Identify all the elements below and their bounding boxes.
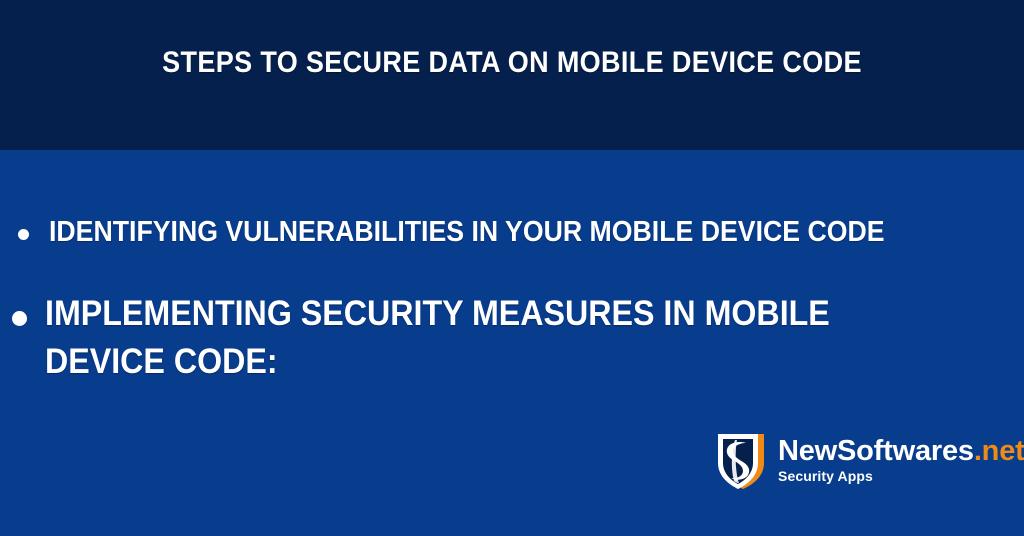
bullet-dot-icon	[18, 229, 29, 240]
logo-text-block: NewSoftwares.net Security Apps	[772, 428, 1024, 486]
list-item: Identifying Vulnerabilities In Your Mobi…	[0, 212, 1024, 252]
logo-brand-tld: .net	[974, 435, 1024, 467]
brand-logo: NewSoftwares.net Security Apps	[712, 428, 1012, 506]
logo-tagline: Security Apps	[778, 464, 875, 484]
page-title: Steps To Secure Data On Mobile Device Co…	[51, 46, 973, 80]
logo-brand-name: NewSoftwares	[778, 435, 974, 467]
list-item-label: Implementing Security Measures In Mobile…	[45, 290, 855, 386]
list-item-label: Identifying Vulnerabilities In Your Mobi…	[49, 212, 885, 252]
list-item: Implementing Security Measures In Mobile…	[0, 290, 1024, 386]
logo-wordmark: NewSoftwares.net	[778, 435, 1024, 467]
shield-s-icon	[712, 430, 772, 492]
bullet-list: Identifying Vulnerabilities In Your Mobi…	[0, 150, 1024, 386]
bullet-dot-icon	[12, 311, 27, 326]
slide-canvas: Steps To Secure Data On Mobile Device Co…	[0, 0, 1024, 536]
